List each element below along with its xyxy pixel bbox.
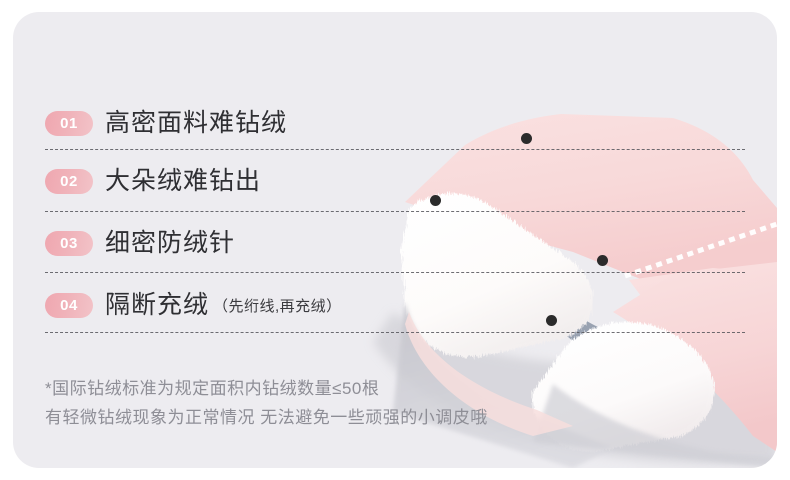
callout-dot-01 xyxy=(521,133,532,144)
feature-row: 02 大朵绒难钻出 xyxy=(45,161,265,213)
callout-dot-03 xyxy=(597,255,608,266)
feature-row: 01 高密面料难钻绒 xyxy=(45,103,291,155)
callout-dot-02 xyxy=(430,195,441,206)
feature-badge-01: 01 xyxy=(45,111,93,136)
feature-title-04: 隔断充绒 xyxy=(105,293,209,318)
feature-row: 04 隔断充绒 （先绗线,再充绒） xyxy=(45,285,342,337)
footer-note: *国际钻绒标准为规定面积内钻绒数量≤50根 有轻微钻绒现象为正常情况 无法避免一… xyxy=(45,374,685,432)
feature-card: 01 高密面料难钻绒 02 大朵绒难钻出 03 细密防绒针 04 隔断充绒 xyxy=(13,12,777,468)
feature-badge-04: 04 xyxy=(45,293,93,318)
feature-badge-02: 02 xyxy=(45,169,93,194)
feature-row: 03 细密防绒针 xyxy=(45,223,239,275)
feature-title-03: 细密防绒针 xyxy=(105,231,235,256)
feature-badge-03: 03 xyxy=(45,231,93,256)
callout-dot-04 xyxy=(546,315,557,326)
feature-title-02: 大朵绒难钻出 xyxy=(105,169,261,194)
footer-line-1: *国际钻绒标准为规定面积内钻绒数量≤50根 xyxy=(45,374,685,403)
footer-line-2: 有轻微钻绒现象为正常情况 无法避免一些顽强的小调皮哦 xyxy=(45,403,685,432)
feature-title-01: 高密面料难钻绒 xyxy=(105,111,287,136)
feature-note-04: （先绗线,再充绒） xyxy=(213,295,342,316)
